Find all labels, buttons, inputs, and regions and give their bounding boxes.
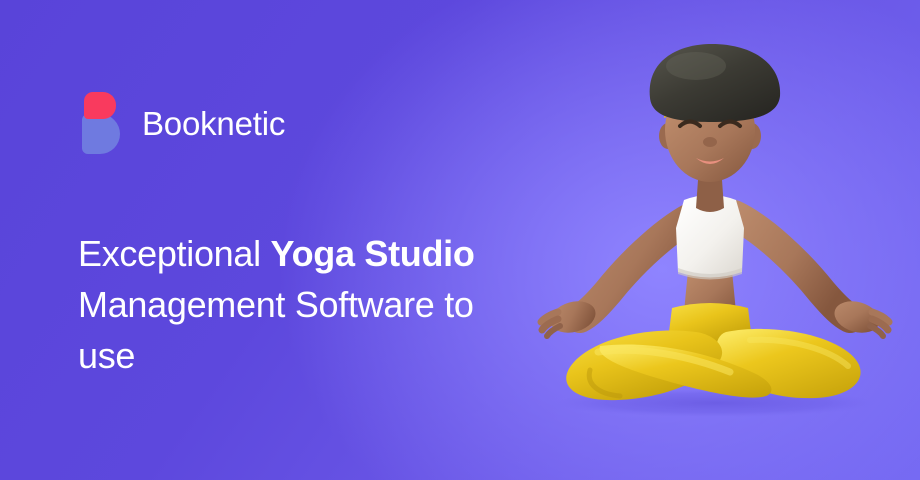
meditating-woman-illustration [500, 40, 920, 440]
head [650, 44, 780, 182]
logo-cap-shape [84, 92, 116, 119]
right-arm [734, 215, 850, 318]
logo-bowl-shape [82, 114, 120, 154]
brand-name: Booknetic [142, 107, 285, 140]
headline-part-2: Management Software to use [78, 284, 474, 376]
brand-logo[interactable]: Booknetic [78, 92, 285, 154]
booknetic-b-icon [78, 92, 124, 154]
page-title: Exceptional Yoga Studio Management Softw… [78, 228, 508, 381]
hair-highlight [666, 52, 726, 80]
meditating-woman-svg [500, 40, 920, 440]
hero-banner: Booknetic Exceptional Yoga Studio Manage… [0, 0, 920, 480]
headline-part-1: Exceptional [78, 233, 271, 274]
nose [703, 137, 717, 147]
headline-emphasis: Yoga Studio [271, 233, 475, 274]
